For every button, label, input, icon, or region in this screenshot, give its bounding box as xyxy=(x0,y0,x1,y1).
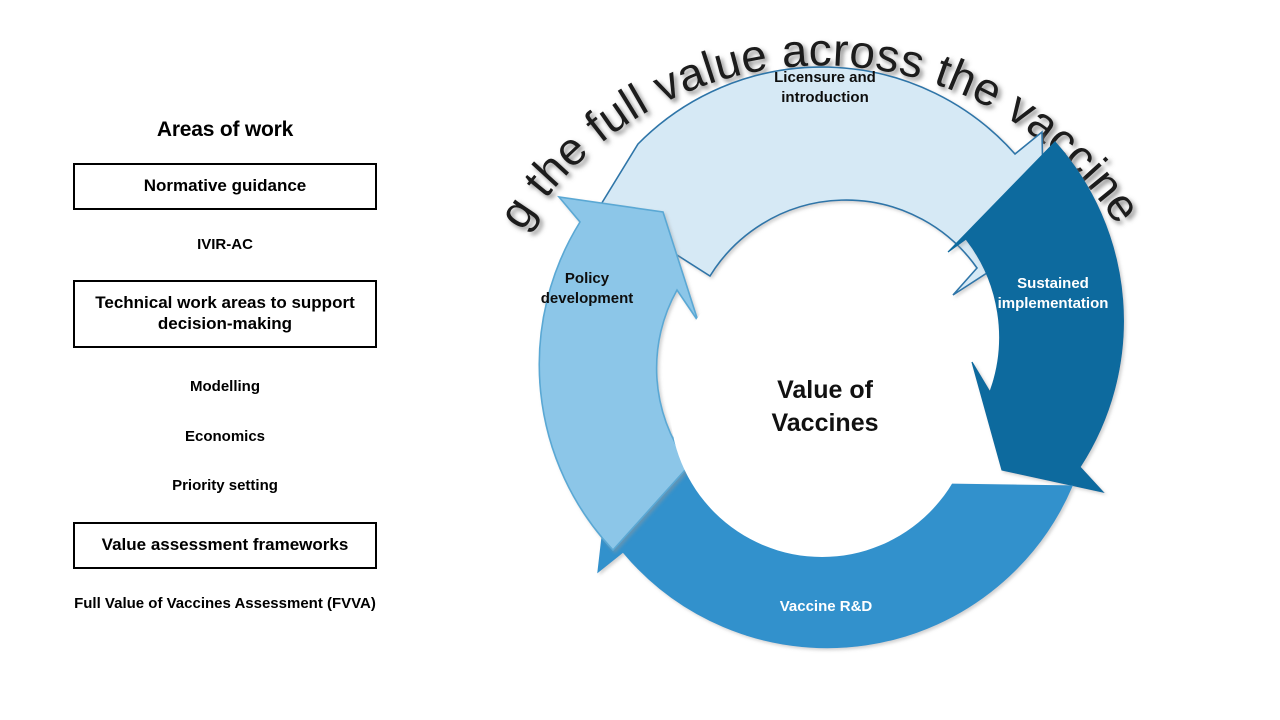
aow-item-fvva[interactable]: Full Value of Vaccines Assessment (FVVA) xyxy=(73,595,377,614)
spacer xyxy=(73,446,377,477)
aow-item-value-assessment-frameworks[interactable]: Value assessment frameworks xyxy=(73,522,377,569)
segment-sustained-label-line2: implementation xyxy=(998,295,1109,312)
aow-item-technical-work-areas[interactable]: Technical work areas to support decision… xyxy=(73,280,377,347)
center-label-line1: Value of xyxy=(777,376,874,404)
spacer xyxy=(73,254,377,280)
aow-item-economics[interactable]: Economics xyxy=(73,428,377,447)
segment-policy-label-line1: Policy xyxy=(565,270,610,287)
spacer xyxy=(73,496,377,522)
center-circle xyxy=(670,253,974,557)
segment-sustained-label-line1: Sustained xyxy=(1017,275,1089,292)
aow-item-ivir-ac[interactable]: IVIR-AC xyxy=(73,236,377,255)
aow-item-priority-setting[interactable]: Priority setting xyxy=(73,477,377,496)
spacer xyxy=(73,397,377,428)
spacer xyxy=(73,569,377,595)
aow-item-modelling[interactable]: Modelling xyxy=(73,378,377,397)
areas-of-work-panel: Areas of work Normative guidance IVIR-AC… xyxy=(73,118,377,614)
page-title: Areas of work xyxy=(73,118,377,142)
spacer xyxy=(73,348,377,378)
vaccine-life-cycle-diagram: Assessing the full value across the vacc… xyxy=(380,0,1280,720)
segment-policy-label-line2: development xyxy=(541,290,634,307)
cycle-center: Value of Vaccines xyxy=(670,253,974,557)
aow-item-normative-guidance[interactable]: Normative guidance xyxy=(73,163,377,210)
spacer xyxy=(73,210,377,236)
center-label-line2: Vaccines xyxy=(771,409,878,437)
segment-licensure-label-line1: Licensure and xyxy=(774,69,876,86)
segment-licensure-label-line2: introduction xyxy=(781,89,868,106)
segment-vaccine-rnd-label-line1: Vaccine R&D xyxy=(780,598,873,615)
